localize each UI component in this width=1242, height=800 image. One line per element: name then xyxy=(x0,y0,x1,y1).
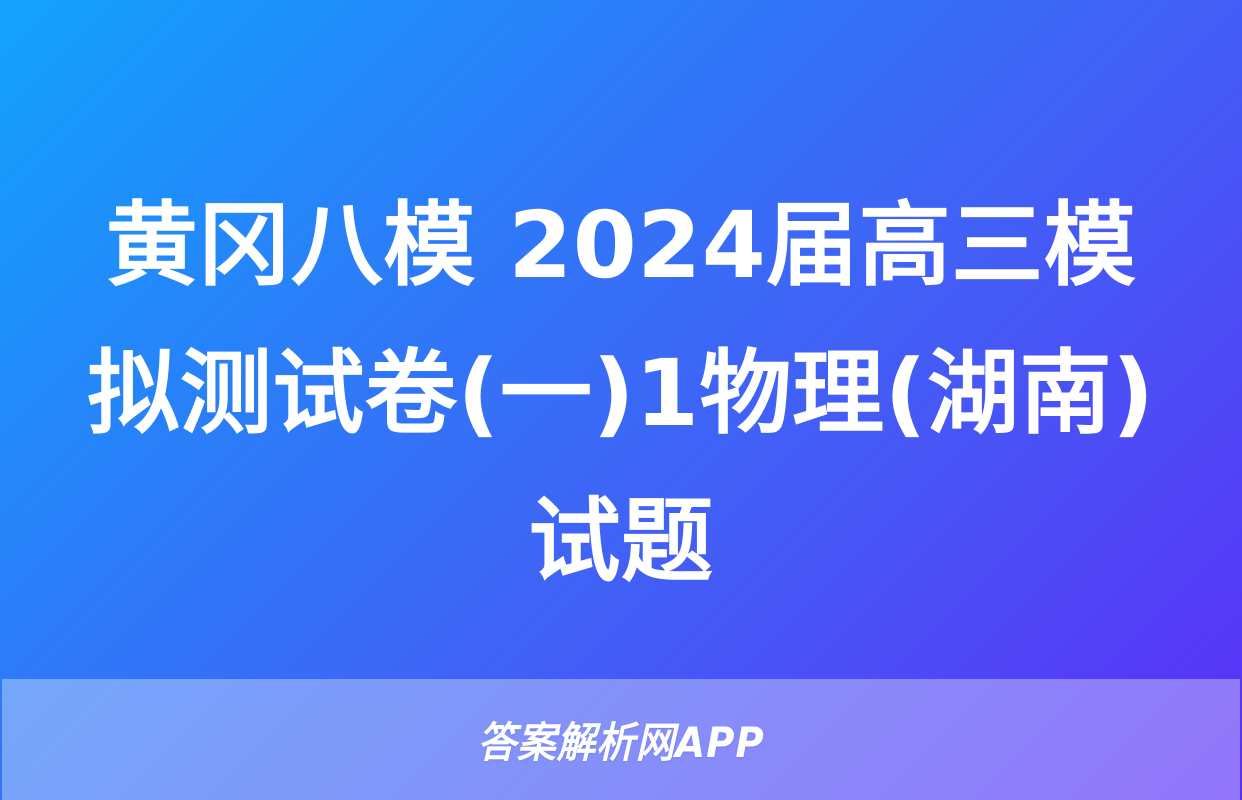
cover-card: 黄冈八模 2024届高三模拟测试卷(一)1物理(湖南)试题 答案解析网APP xyxy=(0,0,1242,800)
page-title: 黄冈八模 2024届高三模拟测试卷(一)1物理(湖南)试题 xyxy=(74,172,1168,616)
watermark-brand-label: 答案解析网APP xyxy=(477,709,764,770)
cover-title-block: 黄冈八模 2024届高三模拟测试卷(一)1物理(湖南)试题 xyxy=(74,172,1168,616)
watermark-band: 答案解析网APP xyxy=(2,679,1240,800)
